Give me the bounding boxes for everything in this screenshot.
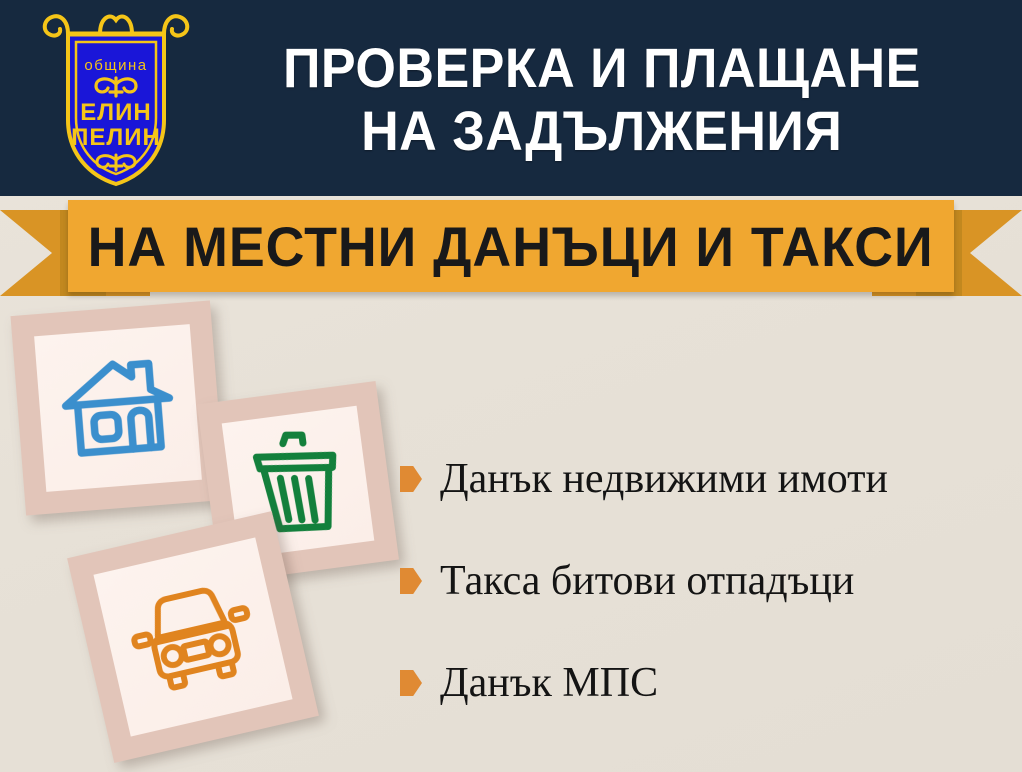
page-title: ПРОВЕРКА И ПЛАЩАНЕ НА ЗАДЪЛЖЕНИЯ xyxy=(196,20,1008,180)
poster-canvas: община ЕЛИН ПЕЛИН ПРОВ xyxy=(0,0,1022,772)
title-line-1: ПРОВЕРКА И ПЛАЩАНЕ xyxy=(283,37,921,100)
ribbon-banner: НА МЕСТНИ ДАНЪЦИ И ТАКСИ xyxy=(68,200,954,292)
crest-name-line2: ПЕЛИН xyxy=(71,124,161,151)
list-item-label: Такса битови отпадъци xyxy=(440,560,854,602)
list-item[interactable]: Данък МПС xyxy=(400,632,1010,734)
municipality-crest-icon: община ЕЛИН ПЕЛИН xyxy=(38,8,194,190)
list-item[interactable]: Такса битови отпадъци xyxy=(400,530,1010,632)
list-item-label: Данък МПС xyxy=(440,662,658,704)
car-icon xyxy=(122,575,265,698)
title-line-2: НА ЗАДЪЛЖЕНИЯ xyxy=(361,100,842,163)
arrow-bullet-icon xyxy=(400,466,422,492)
stamp-inner-face xyxy=(34,324,202,492)
stamp-card-property-tax xyxy=(10,300,225,515)
ribbon-label: НА МЕСТНИ ДАНЪЦИ И ТАКСИ xyxy=(88,214,934,279)
list-item-label: Данък недвижими имоти xyxy=(440,458,888,500)
subtitle-ribbon: НА МЕСТНИ ДАНЪЦИ И ТАКСИ xyxy=(0,196,1022,306)
arrow-bullet-icon xyxy=(400,670,422,696)
header-bar: община ЕЛИН ПЕЛИН ПРОВ xyxy=(0,0,1022,196)
list-item[interactable]: Данък недвижими имоти xyxy=(400,428,1010,530)
crest-municipality-word: община xyxy=(84,57,147,74)
stamp-card-group xyxy=(0,300,420,772)
crest-name-line1: ЕЛИН xyxy=(80,99,151,126)
tax-type-list: Данък недвижими имоти Такса битови отпад… xyxy=(400,428,1010,734)
arrow-bullet-icon xyxy=(400,568,422,594)
house-icon xyxy=(56,352,180,465)
